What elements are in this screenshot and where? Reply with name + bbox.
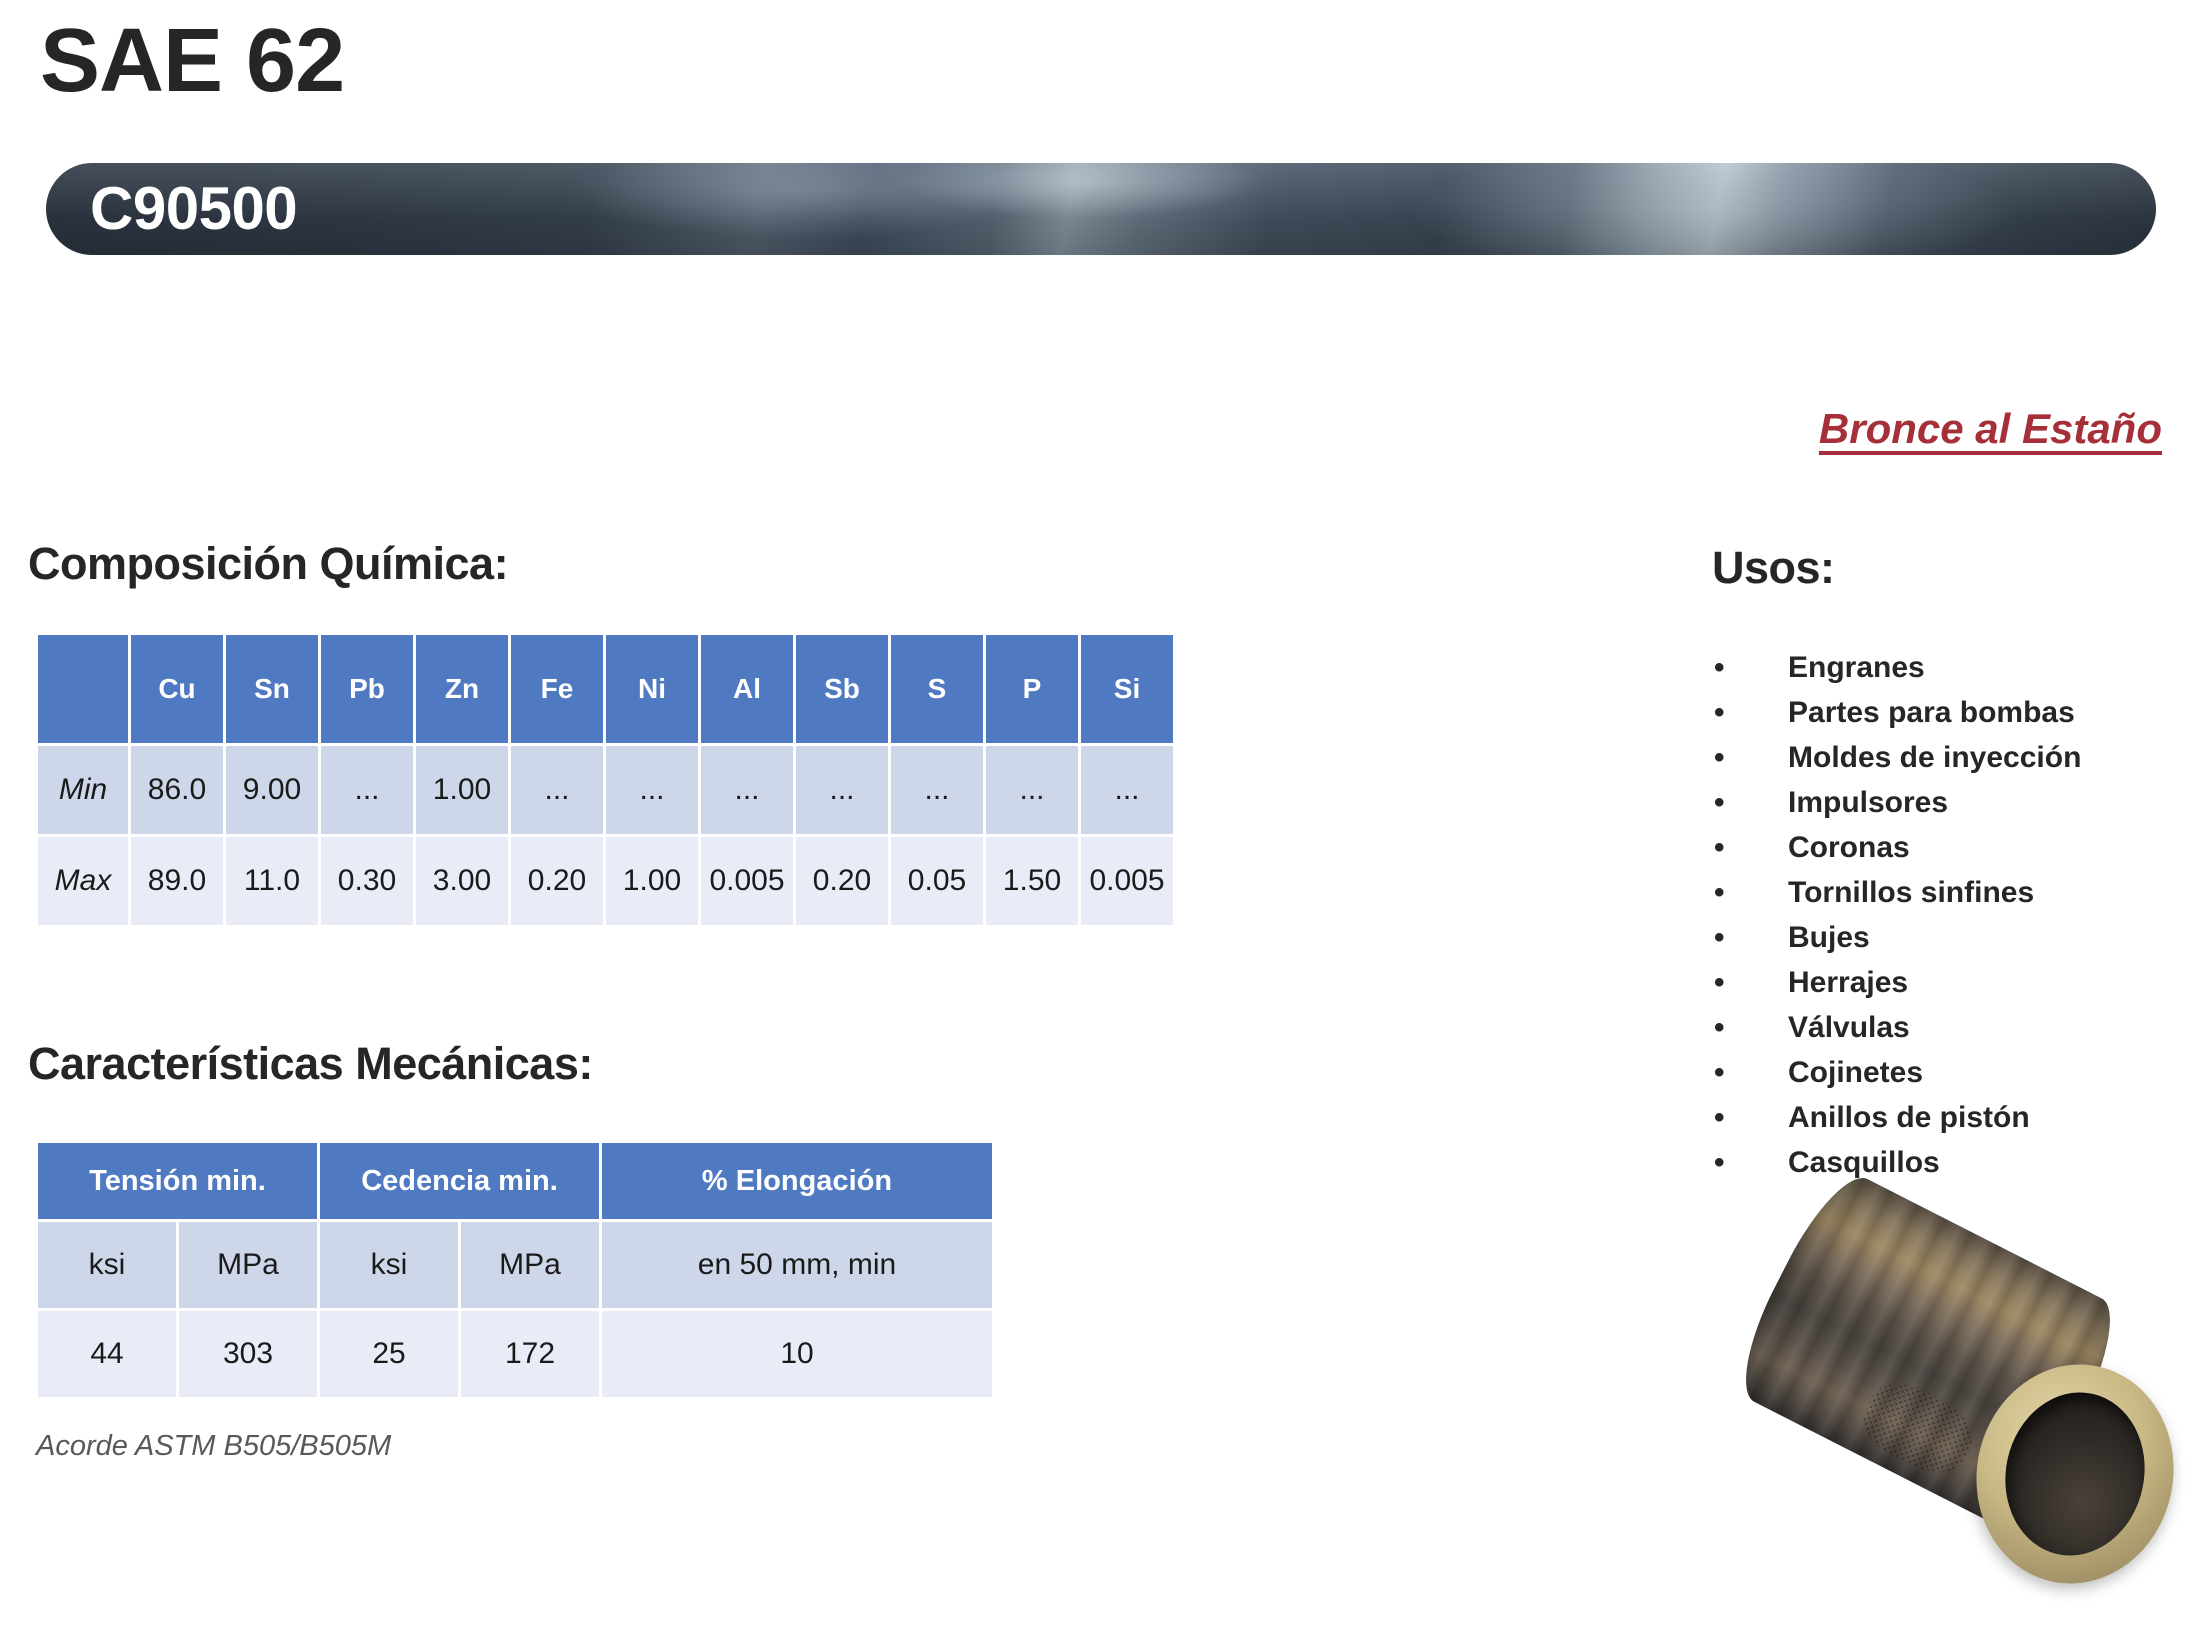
mech-values-row: 44 303 25 172 10: [38, 1311, 992, 1397]
caracteristicas-mecanicas-heading: Características Mecánicas:: [28, 1038, 593, 1090]
value-cedencia-mpa: 172: [461, 1311, 599, 1397]
row-label-max: Max: [38, 837, 128, 925]
cell-min-si: ...: [1081, 746, 1173, 834]
table-header-row: Cu Sn Pb Zn Fe Ni Al Sb S P Si: [38, 635, 1173, 743]
cell-min-sn: 9.00: [226, 746, 318, 834]
list-item-label: Válvulas: [1788, 1011, 1910, 1044]
list-item: •Válvulas: [1700, 1005, 2190, 1050]
header-cell-fe: Fe: [511, 635, 603, 743]
mech-units-row: ksi MPa ksi MPa en 50 mm, min: [38, 1222, 992, 1308]
alloy-code-label: C90500: [90, 179, 297, 239]
unit-cedencia-ksi: ksi: [320, 1222, 458, 1308]
mech-group-header-row: Tensión min. Cedencia min. % Elongación: [38, 1143, 992, 1219]
value-cedencia-ksi: 25: [320, 1311, 458, 1397]
unit-elongacion: en 50 mm, min: [602, 1222, 992, 1308]
header-cell-sb: Sb: [796, 635, 888, 743]
cell-max-fe: 0.20: [511, 837, 603, 925]
cell-max-al: 0.005: [701, 837, 793, 925]
value-tension-ksi: 44: [38, 1311, 176, 1397]
cell-max-sb: 0.20: [796, 837, 888, 925]
bullet-icon: •: [1714, 915, 1725, 960]
list-item-label: Moldes de inyección: [1788, 741, 2081, 774]
bullet-icon: •: [1714, 1140, 1725, 1185]
bullet-icon: •: [1714, 690, 1725, 735]
unit-tension-mpa: MPa: [179, 1222, 317, 1308]
cell-max-zn: 3.00: [416, 837, 508, 925]
list-item-label: Partes para bombas: [1788, 696, 2075, 729]
list-item: •Engranes: [1700, 645, 2190, 690]
list-item-label: Impulsores: [1788, 786, 1948, 819]
cell-min-zn: 1.00: [416, 746, 508, 834]
list-item-label: Casquillos: [1788, 1146, 1940, 1179]
bullet-icon: •: [1714, 780, 1725, 825]
row-label-min: Min: [38, 746, 128, 834]
standard-footnote: Acorde ASTM B505/B505M: [36, 1430, 391, 1463]
header-cell-al: Al: [701, 635, 793, 743]
cell-max-cu: 89.0: [131, 837, 223, 925]
cell-min-sb: ...: [796, 746, 888, 834]
header-cell-cu: Cu: [131, 635, 223, 743]
list-item-label: Bujes: [1788, 921, 1870, 954]
list-item: •Casquillos: [1700, 1140, 2190, 1185]
header-cell-s: S: [891, 635, 983, 743]
cell-min-cu: 86.0: [131, 746, 223, 834]
table-row-min: Min 86.0 9.00 ... 1.00 ... ... ... ... .…: [38, 746, 1173, 834]
bullet-icon: •: [1714, 735, 1725, 780]
unit-cedencia-mpa: MPa: [461, 1222, 599, 1308]
list-item: •Moldes de inyección: [1700, 735, 2190, 780]
cell-max-si: 0.005: [1081, 837, 1173, 925]
list-item: •Herrajes: [1700, 960, 2190, 1005]
cell-min-p: ...: [986, 746, 1078, 834]
list-item: •Bujes: [1700, 915, 2190, 960]
cell-max-s: 0.05: [891, 837, 983, 925]
header-cell-zn: Zn: [416, 635, 508, 743]
bullet-icon: •: [1714, 645, 1725, 690]
unit-tension-ksi: ksi: [38, 1222, 176, 1308]
bullet-icon: •: [1714, 870, 1725, 915]
cell-min-fe: ...: [511, 746, 603, 834]
table-row-max: Max 89.0 11.0 0.30 3.00 0.20 1.00 0.005 …: [38, 837, 1173, 925]
list-item: •Impulsores: [1700, 780, 2190, 825]
value-tension-mpa: 303: [179, 1311, 317, 1397]
usos-heading: Usos:: [1712, 542, 1835, 594]
chemical-composition-table: Cu Sn Pb Zn Fe Ni Al Sb S P Si Min 86.0 …: [35, 632, 1176, 928]
cell-max-ni: 1.00: [606, 837, 698, 925]
header-elongacion: % Elongación: [602, 1143, 992, 1219]
header-cell-p: P: [986, 635, 1078, 743]
bullet-icon: •: [1714, 1095, 1725, 1140]
header-tension-min: Tensión min.: [38, 1143, 317, 1219]
list-item: •Anillos de pistón: [1700, 1095, 2190, 1140]
cell-max-sn: 11.0: [226, 837, 318, 925]
bullet-icon: •: [1714, 1005, 1725, 1050]
cell-min-al: ...: [701, 746, 793, 834]
bronze-bushing-photo: [1735, 1272, 2175, 1632]
banner-metallic-sheen: [46, 163, 2156, 255]
list-item: •Cojinetes: [1700, 1050, 2190, 1095]
cell-max-p: 1.50: [986, 837, 1078, 925]
header-cell-pb: Pb: [321, 635, 413, 743]
bullet-icon: •: [1714, 825, 1725, 870]
list-item-label: Engranes: [1788, 651, 1925, 684]
header-cell-sn: Sn: [226, 635, 318, 743]
mechanical-properties-table: Tensión min. Cedencia min. % Elongación …: [35, 1140, 995, 1400]
cell-min-ni: ...: [606, 746, 698, 834]
value-elongacion: 10: [602, 1311, 992, 1397]
bushing-bore: [1990, 1379, 2159, 1568]
list-item-label: Herrajes: [1788, 966, 1908, 999]
list-item-label: Tornillos sinfines: [1788, 876, 2034, 909]
header-cell-ni: Ni: [606, 635, 698, 743]
header-cell-si: Si: [1081, 635, 1173, 743]
header-cedencia-min: Cedencia min.: [320, 1143, 599, 1219]
header-cell-blank: [38, 635, 128, 743]
alloy-code-banner: C90500: [46, 163, 2156, 255]
cell-min-pb: ...: [321, 746, 413, 834]
cell-max-pb: 0.30: [321, 837, 413, 925]
composicion-quimica-heading: Composición Química:: [28, 538, 508, 590]
list-item: •Partes para bombas: [1700, 690, 2190, 735]
page-title: SAE 62: [40, 14, 344, 109]
bullet-icon: •: [1714, 1050, 1725, 1095]
bullet-icon: •: [1714, 960, 1725, 1005]
cell-min-s: ...: [891, 746, 983, 834]
usos-list: •Engranes •Partes para bombas •Moldes de…: [1700, 645, 2190, 1185]
list-item-label: Anillos de pistón: [1788, 1101, 2030, 1134]
alloy-family-label: Bronce al Estaño: [1819, 405, 2162, 453]
list-item-label: Cojinetes: [1788, 1056, 1923, 1089]
list-item: •Tornillos sinfines: [1700, 870, 2190, 915]
list-item-label: Coronas: [1788, 831, 1910, 864]
list-item: •Coronas: [1700, 825, 2190, 870]
